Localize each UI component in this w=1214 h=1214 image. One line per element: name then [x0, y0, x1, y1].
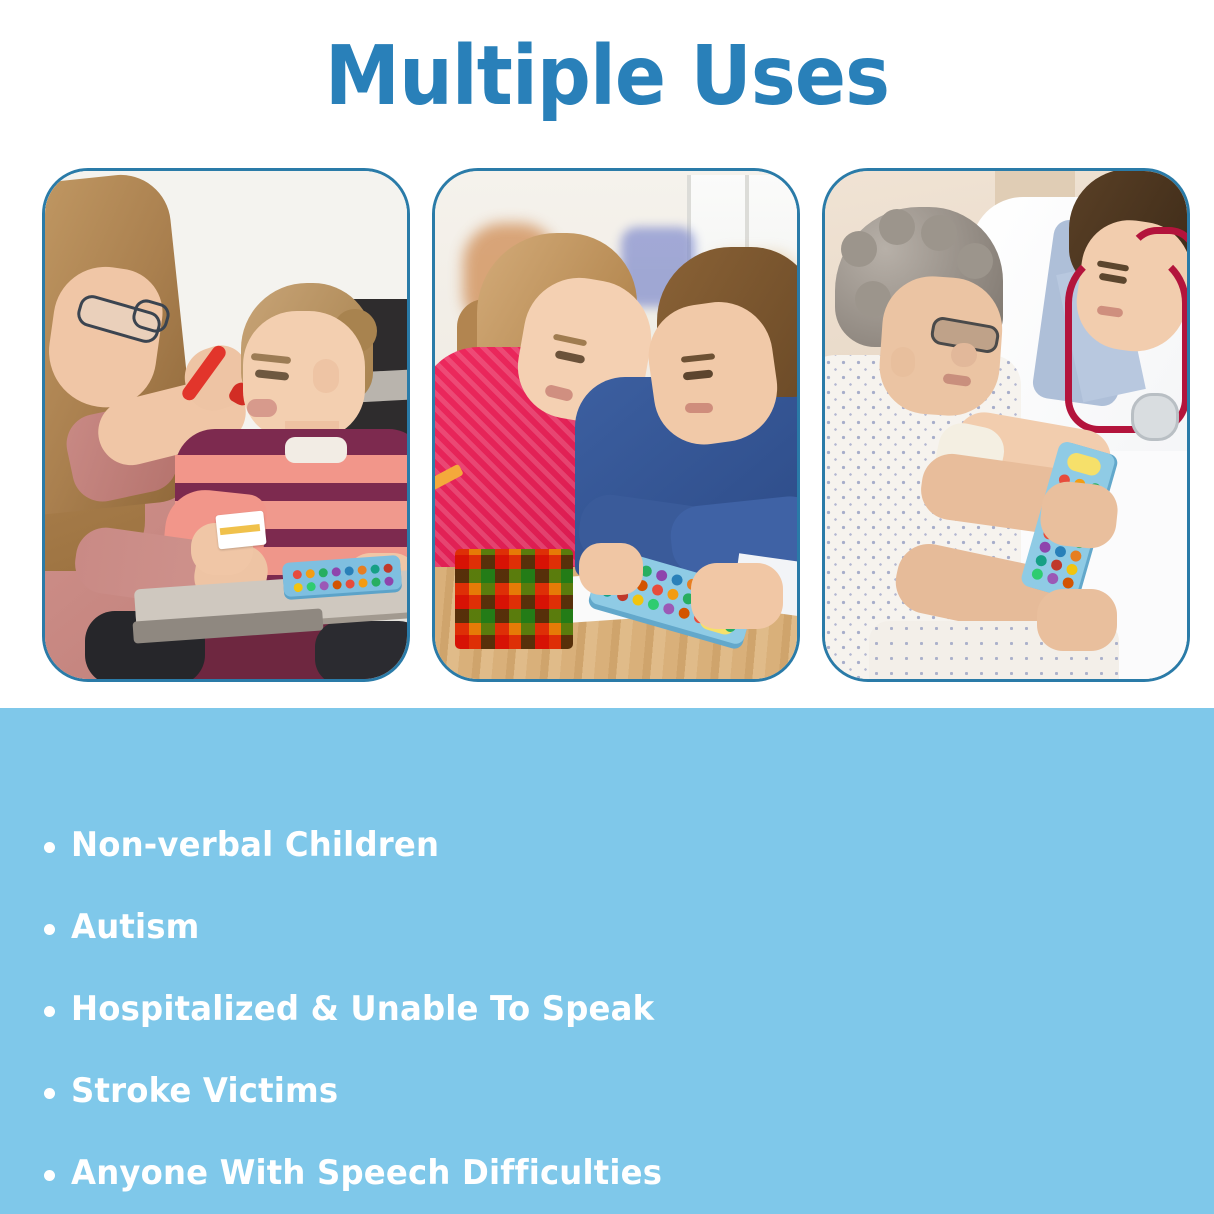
list-item-label: Non-verbal Children [71, 826, 439, 864]
therapy-session-photo [42, 168, 410, 682]
bullet-dot-icon [44, 842, 55, 853]
therapy-session-scene [45, 171, 407, 679]
bullet-dot-icon [44, 1088, 55, 1099]
bullet-dot-icon [44, 1170, 55, 1181]
woven-basket [455, 549, 573, 649]
multiple-uses-infographic: Multiple Uses [0, 0, 1214, 1214]
list-item-label: Autism [71, 908, 200, 946]
bullet-dot-icon [44, 924, 55, 935]
classroom-children-photo [432, 168, 800, 682]
list-item: Stroke Victims [44, 1072, 744, 1110]
uses-panel: Non-verbal Children Autism Hospitalized … [0, 708, 1214, 1214]
list-item-label: Stroke Victims [71, 1072, 338, 1110]
list-item: Anyone With Speech Difficulties [44, 1154, 744, 1192]
page-title: Multiple Uses [49, 34, 1166, 120]
list-item: Autism [44, 908, 744, 946]
photo-gallery [42, 168, 1190, 682]
list-item-label: Anyone With Speech Difficulties [71, 1154, 662, 1192]
list-item-label: Hospitalized & Unable To Speak [71, 990, 654, 1028]
hospital-scene [825, 171, 1187, 679]
list-item: Hospitalized & Unable To Speak [44, 990, 744, 1028]
bullet-dot-icon [44, 1006, 55, 1017]
hospital-patient-photo [822, 168, 1190, 682]
classroom-scene [435, 171, 797, 679]
uses-list: Non-verbal Children Autism Hospitalized … [44, 826, 744, 1214]
list-item: Non-verbal Children [44, 826, 744, 864]
